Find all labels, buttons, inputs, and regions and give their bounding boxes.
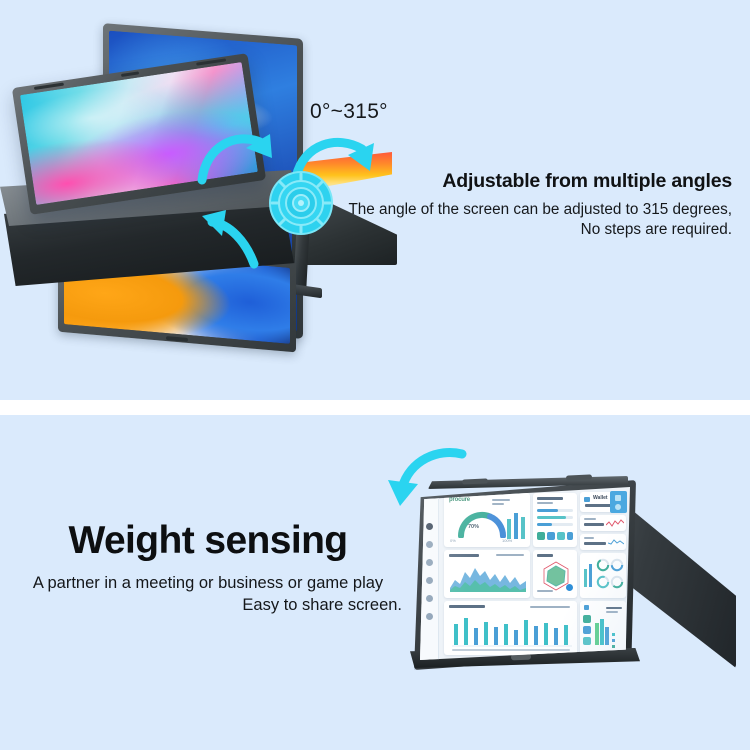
angle-range-label: 0°~315° [310, 100, 388, 124]
bottom-body-line-1: A partner in a meeting or business or ga… [8, 572, 408, 594]
bottom-body-line-2: Easy to share screen. [8, 594, 408, 616]
monthly-bars-axis [452, 649, 570, 651]
summary-legend-1 [612, 633, 615, 636]
sidebar-item-settings[interactable] [426, 613, 433, 620]
dashboard-brand: procure [449, 497, 470, 503]
donut-card-bars [583, 561, 595, 589]
area-card-legend [496, 554, 524, 556]
radar-card[interactable] [533, 550, 577, 598]
sidebar-item-edit[interactable] [426, 595, 433, 602]
curved-rotate-arrow-lower [196, 198, 268, 270]
summary-tile-1[interactable] [583, 615, 591, 623]
camera-notch [166, 336, 188, 342]
monthly-bars-chart [452, 613, 572, 647]
summary-icon [584, 605, 589, 610]
balance-1-sparkline [606, 519, 624, 528]
gauge-chart [456, 506, 508, 538]
balance-card-1[interactable] [580, 515, 626, 531]
sidebar-item-alerts[interactable] [426, 559, 433, 566]
gauge-subtitle-2 [492, 503, 504, 505]
laptop-tent-mode: procure 70% 0% 100% [388, 470, 738, 685]
quick-action-4[interactable] [567, 532, 573, 540]
balance-2-amount [584, 542, 606, 545]
panel-adjustable-angles: 0°~315° Adjustable from multiple angles … [0, 0, 750, 400]
wallet-icon [584, 497, 590, 502]
top-body-line-1: The angle of the screen can be adjusted … [332, 200, 732, 220]
progress-bar-2 [537, 516, 573, 519]
progress-bar-3 [537, 523, 573, 526]
bottom-text-block: Weight sensing A partner in a meeting or… [8, 518, 408, 616]
sidebar-item-analytics[interactable] [426, 541, 433, 548]
monthly-bars-card[interactable] [444, 601, 577, 655]
bottom-heading: Weight sensing [8, 518, 408, 564]
radar-footnote [537, 590, 553, 592]
progress-card-title [537, 497, 563, 500]
balance-1-amount [584, 523, 604, 526]
wallet-action-icon-2[interactable] [615, 504, 621, 510]
bar-card [506, 509, 528, 541]
summary-legend-3 [612, 645, 615, 648]
wallet-title: Wallet [593, 495, 608, 501]
summary-tile-2[interactable] [583, 626, 591, 634]
summary-legend-2 [612, 639, 615, 642]
donut-grid [596, 557, 624, 593]
balance-1-label [584, 518, 596, 520]
monthly-bars-note [530, 606, 570, 608]
gauge-subtitle [492, 499, 510, 501]
top-text-block: Adjustable from multiple angles The angl… [332, 170, 732, 240]
balance-2-sparkline [608, 538, 624, 547]
gauge-card[interactable]: procure 70% 0% 100% [444, 493, 530, 547]
balance-2-label [584, 537, 594, 539]
progress-card[interactable] [533, 493, 577, 547]
top-heading: Adjustable from multiple angles [332, 170, 732, 193]
summary-tile-3[interactable] [583, 637, 591, 645]
balance-card-2[interactable] [580, 534, 626, 550]
panel-divider [0, 400, 750, 415]
marketing-graphic: 0°~315° Adjustable from multiple angles … [0, 0, 750, 750]
webcam-icon [121, 71, 139, 77]
radar-legend-dot [566, 584, 573, 591]
donut-grid-card[interactable] [580, 553, 626, 598]
progress-bar-1 [537, 509, 573, 512]
summary-bars [594, 617, 610, 647]
sidebar-item-dashboard[interactable] [426, 523, 433, 530]
area-card-title [449, 554, 479, 557]
summary-title [606, 607, 622, 609]
wallet-actions[interactable] [610, 491, 627, 513]
rotation-hub-icon [268, 170, 334, 236]
quick-action-2[interactable] [547, 532, 555, 540]
progress-card-sub [537, 502, 553, 504]
gauge-value: 70% [468, 524, 479, 530]
wallet-action-icon-1[interactable] [615, 495, 621, 501]
quick-action-1[interactable] [537, 532, 545, 540]
quick-action-3[interactable] [557, 532, 565, 540]
radar-card-title [537, 554, 553, 557]
dashboard-screen: procure 70% 0% 100% [420, 487, 630, 660]
summary-card[interactable] [580, 601, 626, 655]
sidebar-item-network[interactable] [426, 577, 433, 584]
area-chart-card[interactable] [444, 550, 530, 598]
summary-sub [606, 611, 618, 613]
curved-rotate-arrow-upper [196, 128, 276, 188]
area-chart [450, 562, 526, 592]
monthly-bars-title [449, 605, 485, 608]
top-body-line-2: No steps are required. [332, 220, 732, 240]
gauge-min: 0% [450, 538, 456, 543]
